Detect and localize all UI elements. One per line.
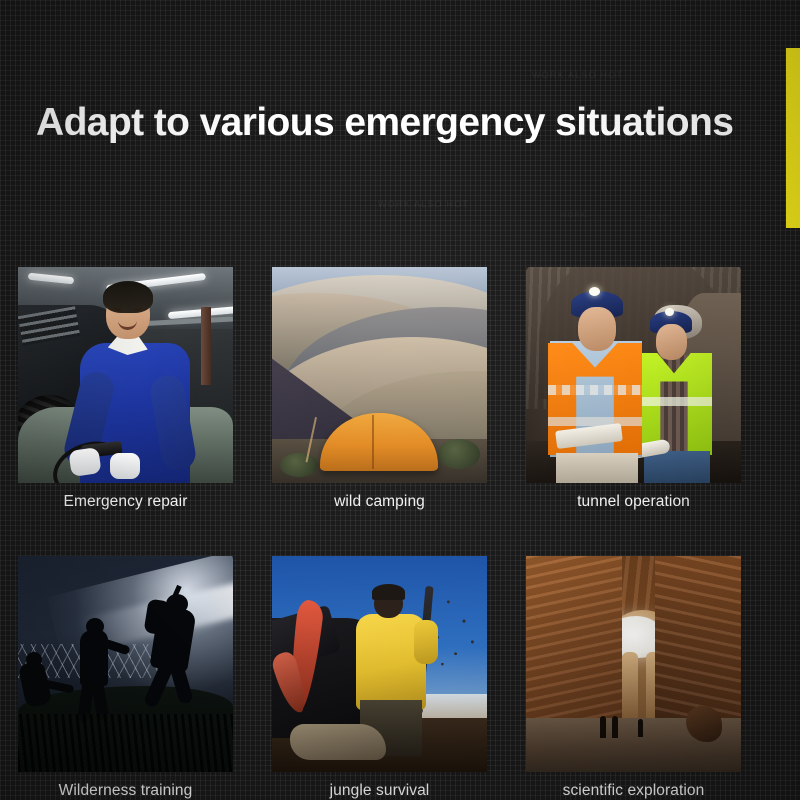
scenario-image-scientific-exploration[interactable] <box>526 556 741 772</box>
scenario-card-wilderness-training[interactable]: Wilderness training <box>18 556 233 800</box>
scenario-card-jungle-survival[interactable]: jungle survival <box>272 556 487 800</box>
scenario-card-tunnel-operation[interactable]: tunnel operation <box>526 267 741 517</box>
watermark-text: WORK <box>560 212 587 219</box>
scenario-card-wild-camping[interactable]: wild camping <box>272 267 487 517</box>
scenario-caption: jungle survival <box>272 776 487 800</box>
scenario-card-emergency-repair[interactable]: Emergency repair <box>18 267 233 517</box>
gallery-row: Emergency repair <box>18 267 742 517</box>
scenario-card-scientific-exploration[interactable]: scientific exploration <box>526 556 741 800</box>
gallery-row: Wilderness training <box>18 556 742 800</box>
scenario-image-wild-camping[interactable] <box>272 267 487 483</box>
scenario-image-jungle-survival[interactable] <box>272 556 487 772</box>
scenario-image-tunnel-operation[interactable] <box>526 267 741 483</box>
scenario-caption: scientific exploration <box>526 776 741 800</box>
scenario-caption: tunnel operation <box>526 487 741 517</box>
scenario-gallery: Emergency repair <box>18 267 742 800</box>
watermark-text: WORK ALSO HOT <box>532 70 623 80</box>
scenario-image-emergency-repair[interactable] <box>18 267 233 483</box>
promo-banner: WORK ALSO HOT WORK ALSO HOT WORK ALSO WO… <box>0 0 800 800</box>
scenario-caption: Wilderness training <box>18 776 233 800</box>
watermark-text: WORK ALSO HOT <box>378 199 469 209</box>
scenario-caption: wild camping <box>272 487 487 517</box>
page-title: Adapt to various emergency situations <box>36 101 788 145</box>
yellow-accent-bar <box>786 48 800 228</box>
scenario-image-wilderness-training[interactable] <box>18 556 233 772</box>
watermark-text: ALSO <box>646 214 669 221</box>
scenario-caption: Emergency repair <box>18 487 233 517</box>
